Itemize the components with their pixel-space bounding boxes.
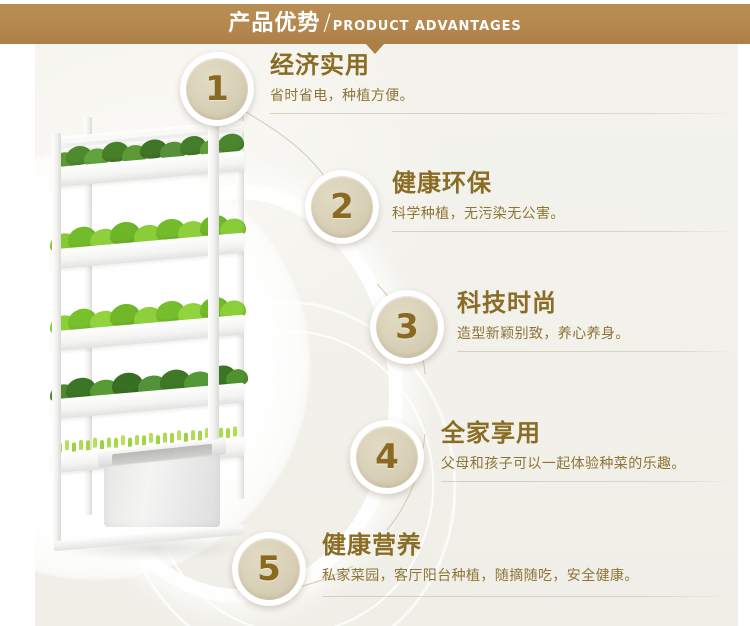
advantage-desc: 科学种植，无污染无公害。 bbox=[392, 206, 565, 223]
advantage-divider bbox=[457, 351, 735, 352]
advantage-divider bbox=[392, 231, 735, 232]
section-banner: 产品优势 / PRODUCT ADVANTAGES bbox=[0, 4, 750, 44]
advantage-badge-4: 4 bbox=[350, 420, 424, 494]
advantage-desc: 私家菜园，客厅阳台种植，随摘随吃，安全健康。 bbox=[322, 568, 639, 585]
badge-number: 3 bbox=[395, 310, 419, 344]
advantage-divider bbox=[441, 481, 735, 482]
badge-number: 5 bbox=[257, 552, 281, 586]
banner-separator: / bbox=[323, 13, 330, 35]
advantage-desc: 造型新颖别致，养心养身。 bbox=[457, 326, 630, 343]
advantage-text-3: 科技时尚 造型新颖别致，养心养身。 bbox=[457, 290, 630, 342]
badge-number: 4 bbox=[375, 440, 399, 474]
product-image bbox=[40, 115, 255, 585]
advantage-divider bbox=[270, 113, 735, 114]
advantage-badge-5: 5 bbox=[232, 532, 306, 606]
advantage-title: 经济实用 bbox=[270, 52, 414, 80]
badge-number: 2 bbox=[330, 190, 354, 224]
advantage-title: 科技时尚 bbox=[457, 290, 630, 318]
metal-planter-bin bbox=[98, 443, 226, 527]
advantage-title: 健康营养 bbox=[322, 532, 639, 560]
advantage-title: 全家享用 bbox=[441, 420, 686, 448]
product-advantages-page: 产品优势 / PRODUCT ADVANTAGES bbox=[0, 0, 750, 626]
badge-number: 1 bbox=[205, 72, 229, 106]
banner-title-cn: 产品优势 bbox=[228, 13, 320, 35]
badge-inner-disc: 3 bbox=[376, 296, 438, 358]
banner-title-en: PRODUCT ADVANTAGES bbox=[333, 20, 522, 33]
advantage-desc: 父母和孩子可以一起体验种菜的乐趣。 bbox=[441, 456, 686, 473]
badge-inner-disc: 2 bbox=[311, 176, 373, 238]
advantage-badge-1: 1 bbox=[180, 52, 254, 126]
advantage-desc: 省时省电，种植方便。 bbox=[270, 88, 414, 105]
advantage-badge-2: 2 bbox=[305, 170, 379, 244]
advantage-text-2: 健康环保 科学种植，无污染无公害。 bbox=[392, 170, 565, 222]
badge-inner-disc: 4 bbox=[356, 426, 418, 488]
advantage-badge-3: 3 bbox=[370, 290, 444, 364]
advantage-text-5: 健康营养 私家菜园，客厅阳台种植，随摘随吃，安全健康。 bbox=[322, 532, 639, 584]
advantage-title: 健康环保 bbox=[392, 170, 565, 198]
advantage-text-4: 全家享用 父母和孩子可以一起体验种菜的乐趣。 bbox=[441, 420, 686, 472]
banner-text-group: 产品优势 / PRODUCT ADVANTAGES bbox=[228, 13, 521, 35]
advantage-text-1: 经济实用 省时省电，种植方便。 bbox=[270, 52, 414, 104]
badge-inner-disc: 5 bbox=[238, 538, 300, 600]
badge-inner-disc: 1 bbox=[186, 58, 248, 120]
advantage-divider bbox=[322, 596, 735, 597]
page-background-right-margin bbox=[738, 44, 750, 626]
rack-post-front-left bbox=[52, 133, 61, 545]
